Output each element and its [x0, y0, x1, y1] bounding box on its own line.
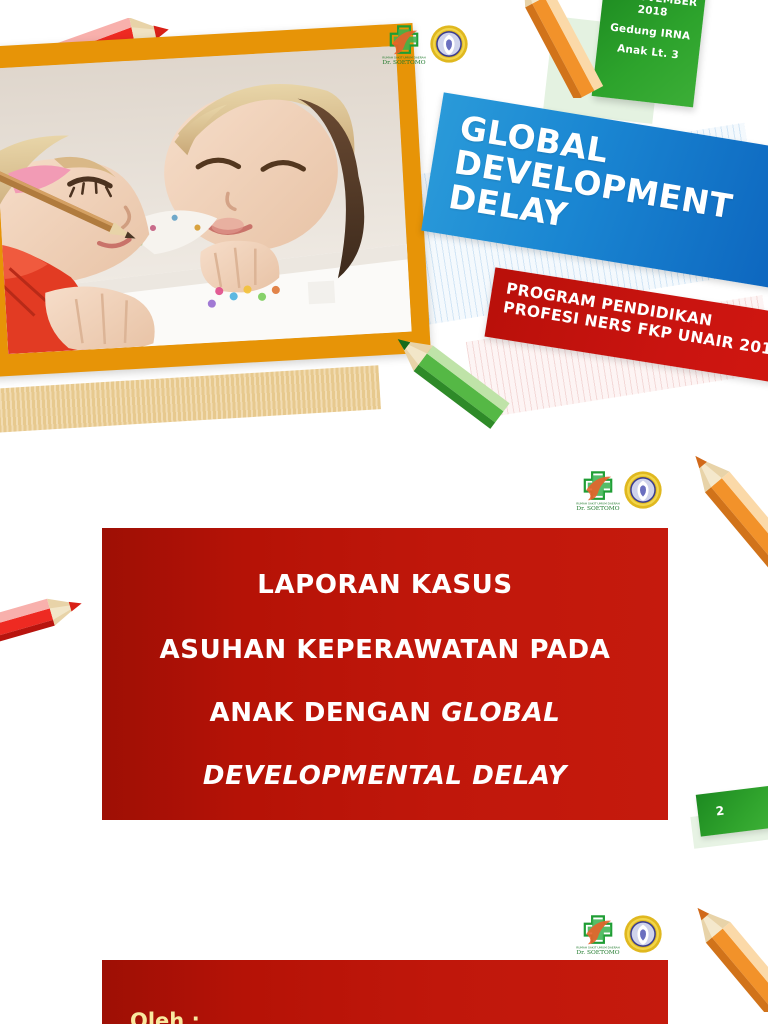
wood-pencil-strip-decoration — [0, 365, 381, 435]
title-line-1: LAPORAN KASUS — [102, 570, 668, 600]
dr-soetomo-hospital-logo-icon: RUMAH SAKIT UMUM DAERAH Dr. SOETOMO — [576, 912, 620, 956]
oleh-label: Oleh : — [130, 1009, 200, 1024]
authors-box: Oleh : — [102, 960, 668, 1024]
title-line-4: DEVELOPMENTAL DELAY — [102, 761, 668, 791]
title-line-3-text: ANAK DENGAN — [210, 698, 442, 728]
orange-pencil-icon — [672, 896, 768, 1012]
orange-pencil-icon — [666, 448, 768, 568]
dr-soetomo-hospital-logo-icon: RUMAH SAKIT UMUM DAERAH Dr. SOETOMO — [382, 22, 426, 66]
green-pencil-icon — [378, 332, 528, 442]
svg-text:RUMAH SAKIT UMUM DAERAH: RUMAH SAKIT UMUM DAERAH — [576, 502, 620, 506]
universitas-airlangga-logo-icon — [623, 914, 663, 954]
universitas-airlangga-logo-icon — [623, 470, 663, 510]
svg-text:Dr. SOETOMO: Dr. SOETOMO — [576, 950, 619, 956]
children-drawing-photo — [0, 46, 412, 354]
universitas-airlangga-logo-icon — [429, 24, 469, 64]
case-report-title-box: LAPORAN KASUS ASUHAN KEPERAWATAN PADA AN… — [102, 528, 668, 820]
note-date-line2: 2018 — [637, 3, 668, 18]
orange-pencil-icon — [470, 0, 640, 98]
slide-deck-page: RUMAH SAKIT UMUM DAERAH Dr. SOETOMO — [0, 0, 768, 1024]
slide-number-badge: 2 — [696, 785, 768, 836]
slide-number-value: 2 — [715, 804, 725, 819]
svg-text:Dr. SOETOMO: Dr. SOETOMO — [576, 506, 619, 512]
dr-soetomo-hospital-logo-icon: RUMAH SAKIT UMUM DAERAH Dr. SOETOMO — [576, 468, 620, 512]
slide-1: RUMAH SAKIT UMUM DAERAH Dr. SOETOMO — [0, 0, 768, 448]
title-italic-word: GLOBAL — [441, 698, 560, 728]
title-line-3: ANAK DENGAN GLOBAL — [102, 698, 668, 728]
logo-group-slide3: RUMAH SAKIT UMUM DAERAH Dr. SOETOMO — [576, 912, 663, 956]
logo-group-slide2: RUMAH SAKIT UMUM DAERAH Dr. SOETOMO — [576, 468, 663, 512]
svg-text:RUMAH SAKIT UMUM DAERAH: RUMAH SAKIT UMUM DAERAH — [382, 56, 426, 60]
svg-text:Dr. SOETOMO: Dr. SOETOMO — [382, 60, 425, 66]
logo-group-slide1: RUMAH SAKIT UMUM DAERAH Dr. SOETOMO — [382, 22, 469, 66]
svg-text:RUMAH SAKIT UMUM DAERAH: RUMAH SAKIT UMUM DAERAH — [576, 946, 620, 950]
slide-2: RUMAH SAKIT UMUM DAERAH Dr. SOETOMO — [0, 448, 768, 896]
photo-frame — [0, 23, 431, 377]
title-line-2: ASUHAN KEPERAWATAN PADA — [102, 635, 668, 665]
red-pencil-icon — [0, 568, 98, 668]
slide-3: RUMAH SAKIT UMUM DAERAH Dr. SOETOMO — [0, 896, 768, 1024]
